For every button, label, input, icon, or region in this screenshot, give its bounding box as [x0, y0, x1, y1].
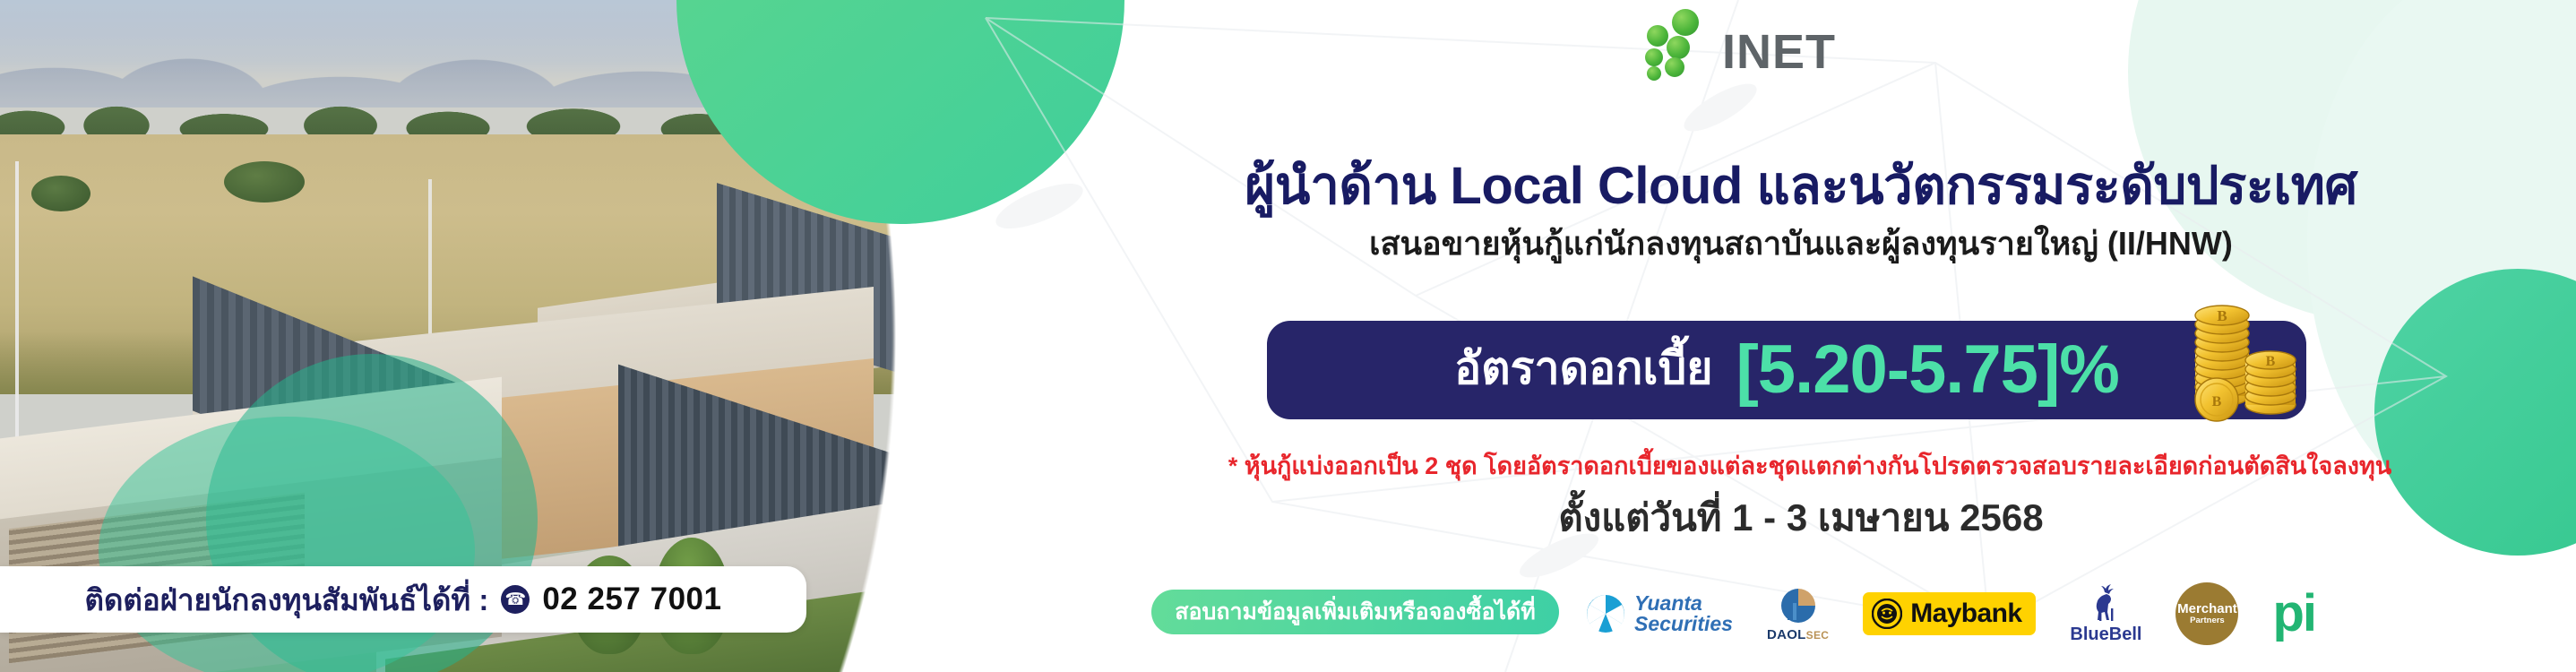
pi-logo-icon: pi — [2272, 594, 2315, 633]
maybank-tiger-icon — [1872, 599, 1902, 629]
inet-logo[interactable]: INET — [1640, 7, 1944, 77]
bluebell-deer-icon — [2088, 583, 2124, 623]
inet-dots-logo-icon — [1640, 7, 1715, 77]
disclaimer-note: * หุ้นกู้แบ่งออกเป็น 2 ชุด โดยอัตราดอกเบ… — [1111, 446, 2509, 485]
daol-circle-icon — [1779, 586, 1818, 625]
daol-suffix: SEC — [1806, 629, 1830, 642]
inet-logo-text: INET — [1722, 30, 1836, 75]
partner-daol[interactable]: DAOLSEC — [1767, 573, 1829, 654]
yuanta-name-line1: Yuanta — [1634, 593, 1733, 614]
merchant-circle-icon: Merchant Partners — [2175, 582, 2238, 645]
contact-phone-number[interactable]: 02 257 7001 — [542, 582, 721, 617]
contact-card: ติดต่อฝ่ายนักลงทุนสัมพันธ์ได้ที่ : ☎ 02 … — [0, 566, 806, 633]
merchant-name-line1: Merchant — [2177, 602, 2237, 616]
partner-maybank[interactable]: Maybank — [1863, 573, 2036, 654]
contact-label: ติดต่อฝ่ายนักลงทุนสัมพันธ์ได้ที่ : — [85, 576, 489, 624]
partner-logos: Yuanta Securities DAOLSEC — [1586, 573, 2315, 654]
interest-rate-value: [5.20-5.75]% — [1736, 336, 2119, 404]
bluebell-name: BlueBell — [2070, 625, 2141, 645]
svg-text:B: B — [2266, 354, 2276, 369]
teal-circle-overlay — [99, 417, 475, 672]
page-subtitle: เสนอขายหุ้นกู้แก่นักลงทุนสถาบันและผู้ลงท… — [1165, 218, 2437, 269]
page-title: ผู้นำด้าน Local Cloud และนวัตกรรมระดับปร… — [1165, 143, 2437, 227]
interest-rate-box: อัตราดอกเบี้ย [5.20-5.75]% — [1267, 321, 2306, 419]
partner-merchant[interactable]: Merchant Partners — [2175, 573, 2238, 654]
promo-banner: INET ผู้นำด้าน Local Cloud และนวัตกรรมระ… — [0, 0, 2576, 672]
merchant-name-line2: Partners — [2190, 616, 2225, 625]
daol-name: DAOL — [1767, 627, 1806, 642]
yuanta-star-icon — [1586, 594, 1625, 633]
yuanta-name-line2: Securities — [1634, 614, 1733, 634]
partner-yuanta[interactable]: Yuanta Securities — [1586, 573, 1733, 654]
bitcoin-coins-stack-icon: B B B — [2183, 299, 2317, 425]
offer-dates: ตั้งแต่วันที่ 1 - 3 เมษายน 2568 — [1165, 488, 2437, 547]
interest-rate-label: อัตราดอกเบี้ย — [1454, 333, 1712, 404]
svg-text:B: B — [2217, 307, 2227, 324]
phone-icon: ☎ — [501, 585, 530, 614]
partner-bluebell[interactable]: BlueBell — [2070, 573, 2141, 654]
partner-pi[interactable]: pi — [2272, 573, 2315, 654]
maybank-name: Maybank — [1910, 599, 2021, 629]
cta-button[interactable]: สอบถามข้อมูลเพิ่มเติมหรือจองซื้อได้ที่ — [1151, 590, 1559, 634]
svg-text:B: B — [2212, 394, 2222, 409]
